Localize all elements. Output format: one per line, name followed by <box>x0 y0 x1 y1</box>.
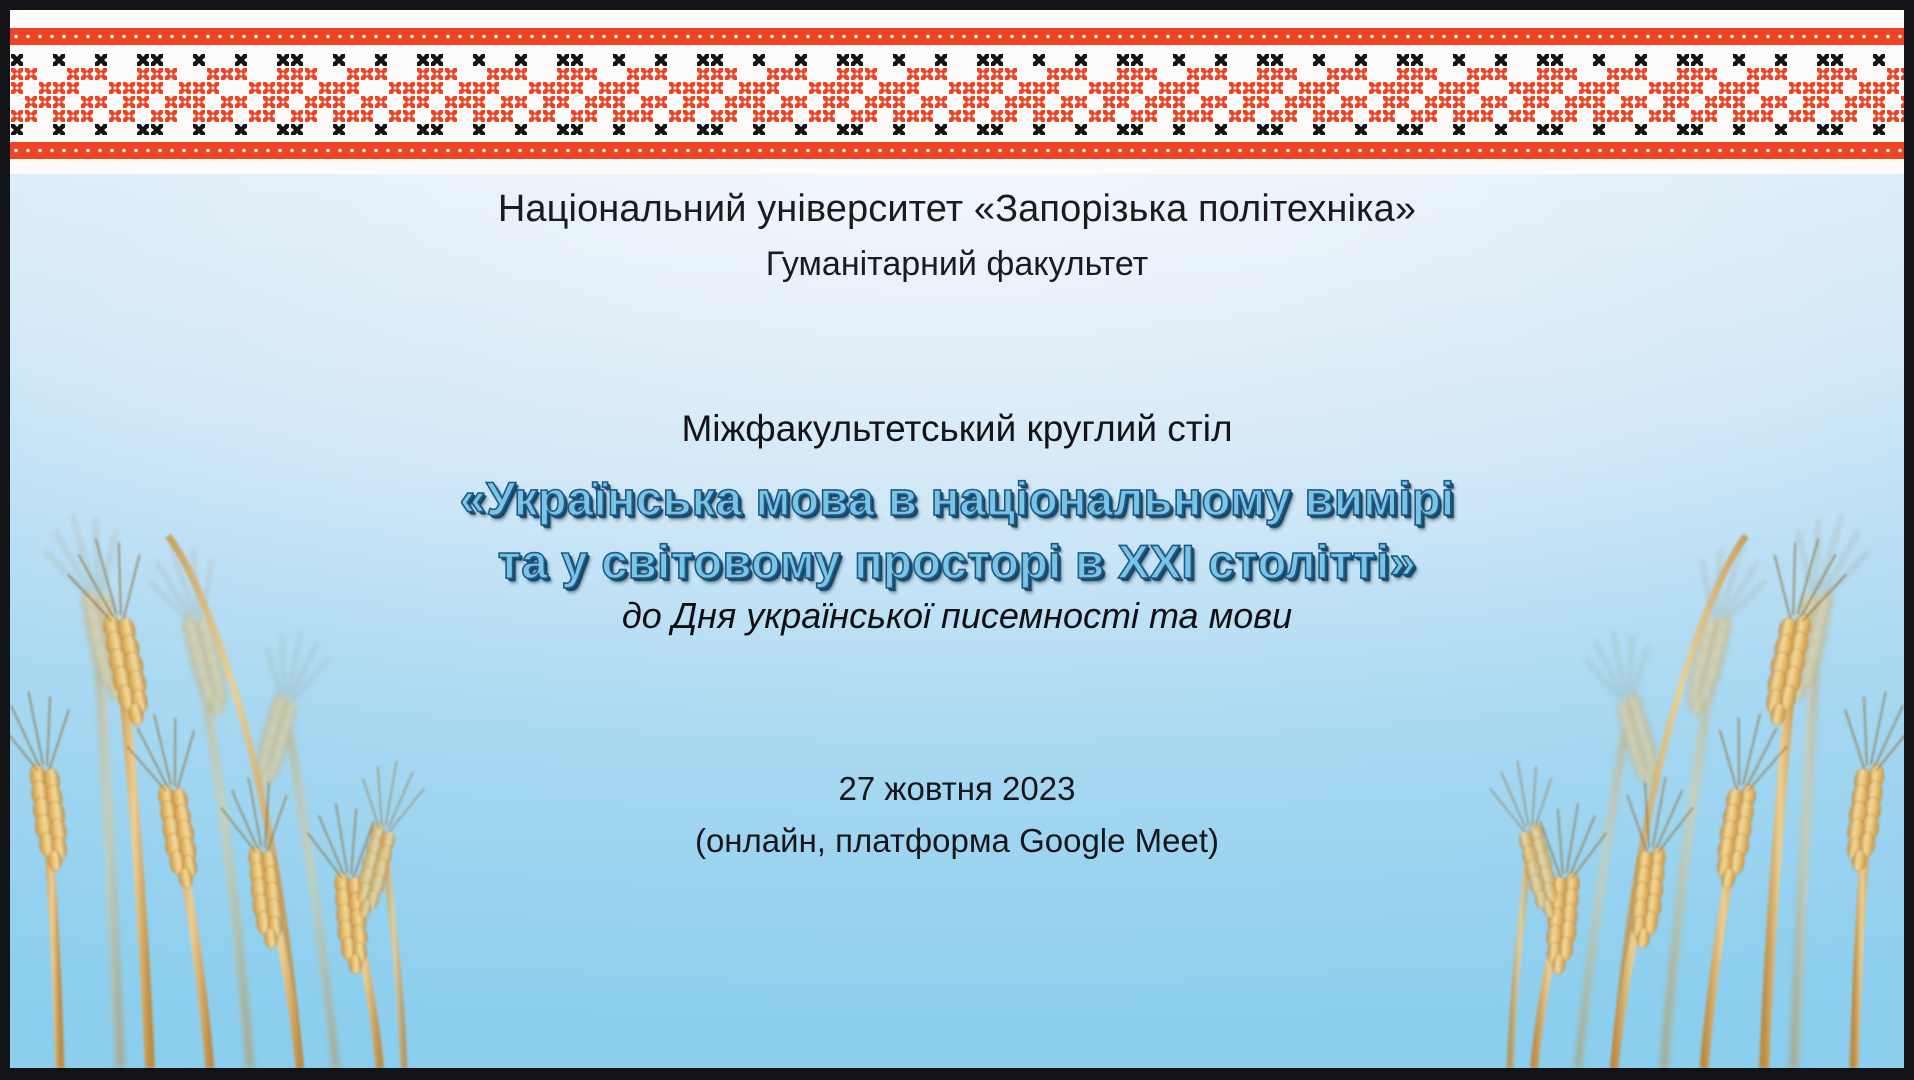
ukrainian-embroidery-border <box>10 10 1904 174</box>
embroidery-zigzag-pattern <box>10 53 1904 135</box>
embroidery-chain-row-top <box>10 28 1904 45</box>
embroidery-chain-row-bottom <box>10 142 1904 159</box>
faculty-name: Гуманітарний факультет <box>10 245 1904 284</box>
event-subtitle: до Дня української писемності та мови <box>10 595 1904 637</box>
presentation-slide: Національний університет «Запорізька пол… <box>0 0 1914 1080</box>
event-title: «Українська мова в національному вимірі … <box>10 468 1904 593</box>
organization-name: Національний університет «Запорізька пол… <box>10 188 1904 231</box>
event-title-line-1: «Українська мова в національному вимірі <box>10 468 1904 531</box>
event-title-line-2: та у світовому просторі в XXI столітті» <box>10 531 1904 594</box>
slide-stage: Національний університет «Запорізька пол… <box>10 10 1904 1068</box>
event-date: 27 жовтня 2023 <box>10 770 1904 808</box>
event-type-label: Міжфакультетський круглий стіл <box>10 408 1904 450</box>
event-platform: (онлайн, платформа Google Meet) <box>10 822 1904 860</box>
